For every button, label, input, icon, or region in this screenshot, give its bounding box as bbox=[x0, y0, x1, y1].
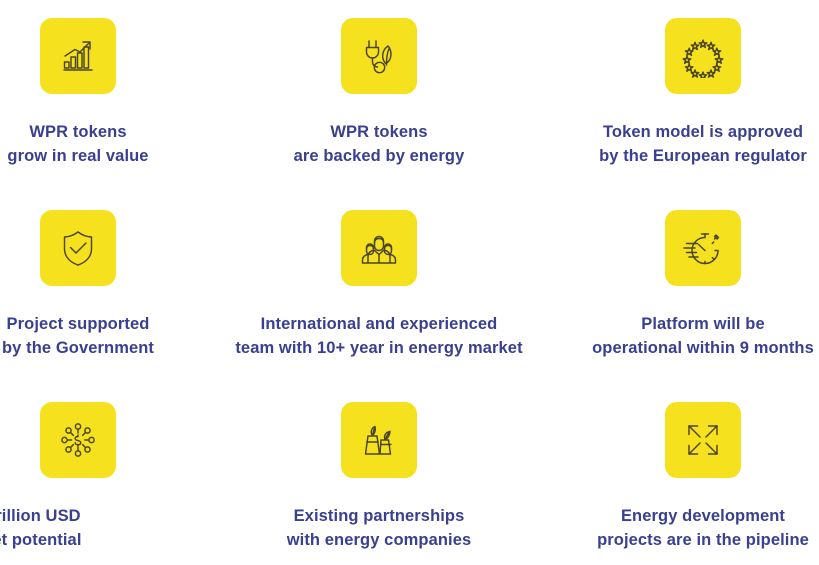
feature-card: International and experienced team with … bbox=[249, 210, 509, 360]
feature-label-line1: Token model is approved bbox=[599, 120, 807, 144]
feature-label-line1: WPR tokens bbox=[7, 120, 148, 144]
feature-label-line1: Existing partnerships bbox=[287, 504, 472, 528]
feature-label-line2: operational within 9 months bbox=[592, 336, 814, 360]
feature-label-line2: market potential bbox=[0, 528, 82, 552]
feature-label-line1: Platform will be bbox=[592, 312, 814, 336]
team-people-icon bbox=[341, 210, 417, 286]
plug-leaf-energy-icon bbox=[341, 18, 417, 94]
feature-label: Token model is approved by the European … bbox=[599, 120, 807, 168]
feature-card: Energy development projects are in the p… bbox=[573, 402, 819, 552]
feature-label-line2: by the European regulator bbox=[599, 144, 807, 168]
growth-bar-chart-icon bbox=[40, 18, 116, 94]
feature-label-line2: by the Government bbox=[2, 336, 154, 360]
feature-label: Existing partnerships with energy compan… bbox=[287, 504, 472, 552]
feature-label: Platform will be operational within 9 mo… bbox=[592, 312, 814, 360]
feature-label-line1: Project supported bbox=[2, 312, 154, 336]
shield-check-icon bbox=[40, 210, 116, 286]
feature-label-line1: Energy development bbox=[597, 504, 809, 528]
european-union-stars-icon bbox=[665, 18, 741, 94]
feature-label: 1.24 trillion USD market potential bbox=[0, 504, 82, 552]
feature-card: WPR tokens grow in real value bbox=[0, 18, 208, 168]
feature-card: Token model is approved by the European … bbox=[573, 18, 819, 168]
feature-label-line1: International and experienced bbox=[235, 312, 522, 336]
stopwatch-speed-icon bbox=[665, 210, 741, 286]
feature-card: 1.24 trillion USD market potential bbox=[0, 402, 208, 552]
feature-card: Platform will be operational within 9 mo… bbox=[573, 210, 819, 360]
feature-label-line2: grow in real value bbox=[7, 144, 148, 168]
feature-label: Energy development projects are in the p… bbox=[597, 504, 809, 552]
feature-label-line1: 1.24 trillion USD bbox=[0, 504, 82, 528]
feature-label: WPR tokens grow in real value bbox=[7, 120, 148, 168]
features-grid: WPR tokens grow in real value WPR tokens… bbox=[0, 0, 819, 565]
feature-label: Project supported by the Government bbox=[2, 312, 154, 360]
power-plant-leaf-icon bbox=[341, 402, 417, 478]
feature-label-line1: WPR tokens bbox=[294, 120, 465, 144]
feature-label: International and experienced team with … bbox=[235, 312, 522, 360]
feature-label-line2: are backed by energy bbox=[294, 144, 465, 168]
feature-label-line2: projects are in the pipeline bbox=[597, 528, 809, 552]
feature-label-line2: team with 10+ year in energy market bbox=[235, 336, 522, 360]
feature-card: Existing partnerships with energy compan… bbox=[249, 402, 509, 552]
feature-label-line2: with energy companies bbox=[287, 528, 472, 552]
feature-card: WPR tokens are backed by energy bbox=[249, 18, 509, 168]
expand-arrows-icon bbox=[665, 402, 741, 478]
feature-card: Project supported by the Government bbox=[0, 210, 208, 360]
feature-label: WPR tokens are backed by energy bbox=[294, 120, 465, 168]
network-dollar-hub-icon bbox=[40, 402, 116, 478]
